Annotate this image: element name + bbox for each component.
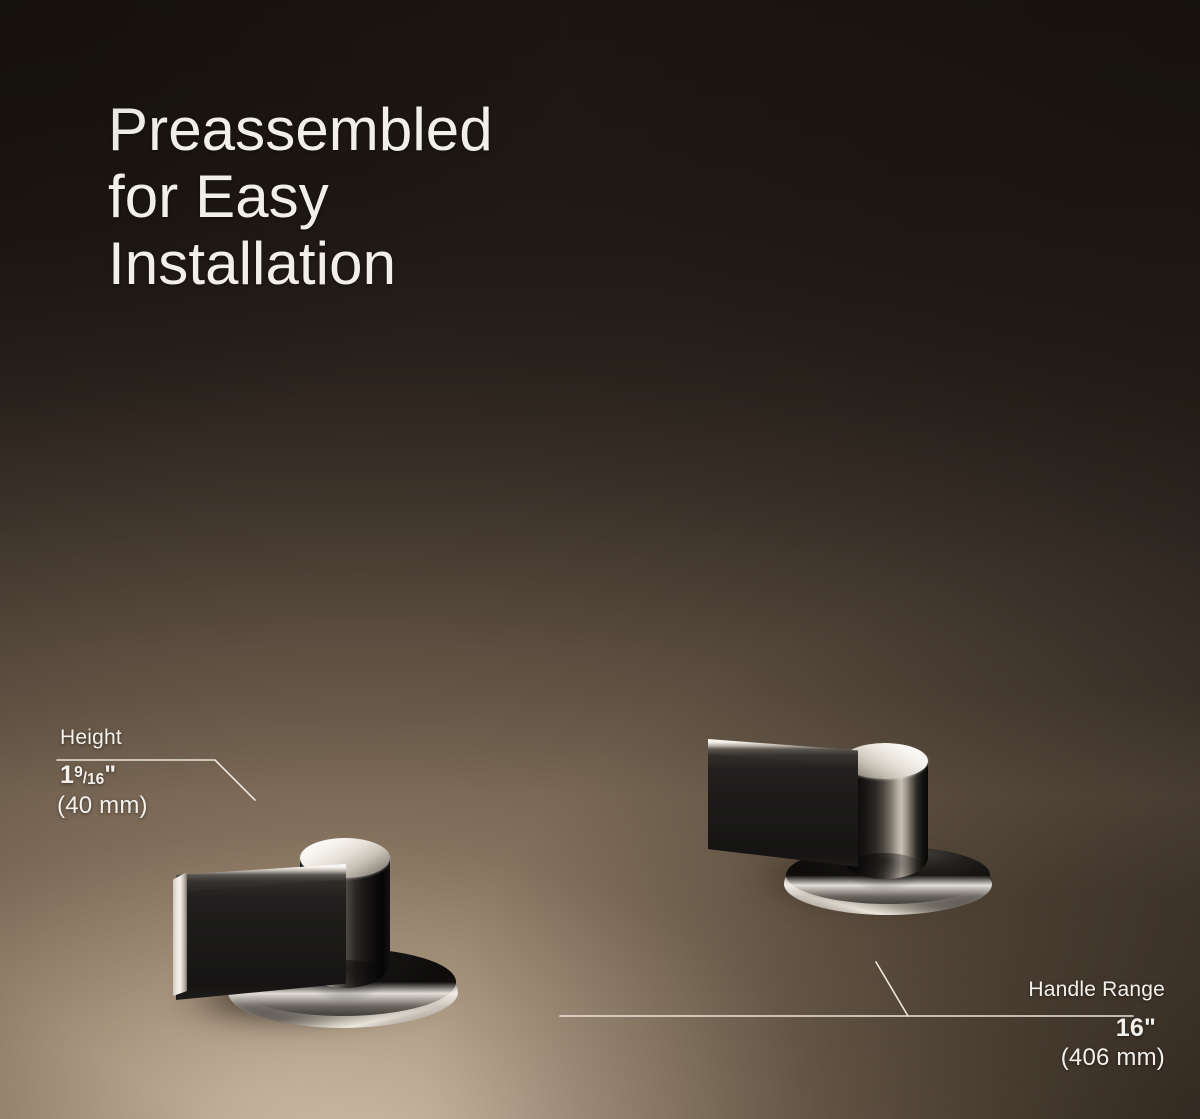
background-vignette <box>0 0 1200 1119</box>
handle-range-callout-metric: (406 mm) <box>905 1044 1165 1072</box>
height-callout: Height 19/16" (40 mm) <box>57 726 317 820</box>
height-fraction-numerator: 9 <box>74 764 83 781</box>
product-hero-image: Preassembled for Easy Installation <box>0 0 1200 1119</box>
handle-range-callout-value: 16" <box>905 1014 1156 1043</box>
height-callout-metric: (40 mm) <box>57 792 317 820</box>
height-value-unit: " <box>104 761 116 789</box>
handle-range-callout-title: Handle Range <box>905 978 1165 1002</box>
height-value-whole: 1 <box>60 761 74 789</box>
height-value-fraction: 9/16 <box>74 770 104 787</box>
height-callout-value: 19/16" <box>60 761 317 790</box>
handle-range-callout: Handle Range 16" (406 mm) <box>905 978 1165 1072</box>
height-fraction-denominator: 16 <box>87 771 104 788</box>
height-callout-title: Height <box>60 726 317 750</box>
